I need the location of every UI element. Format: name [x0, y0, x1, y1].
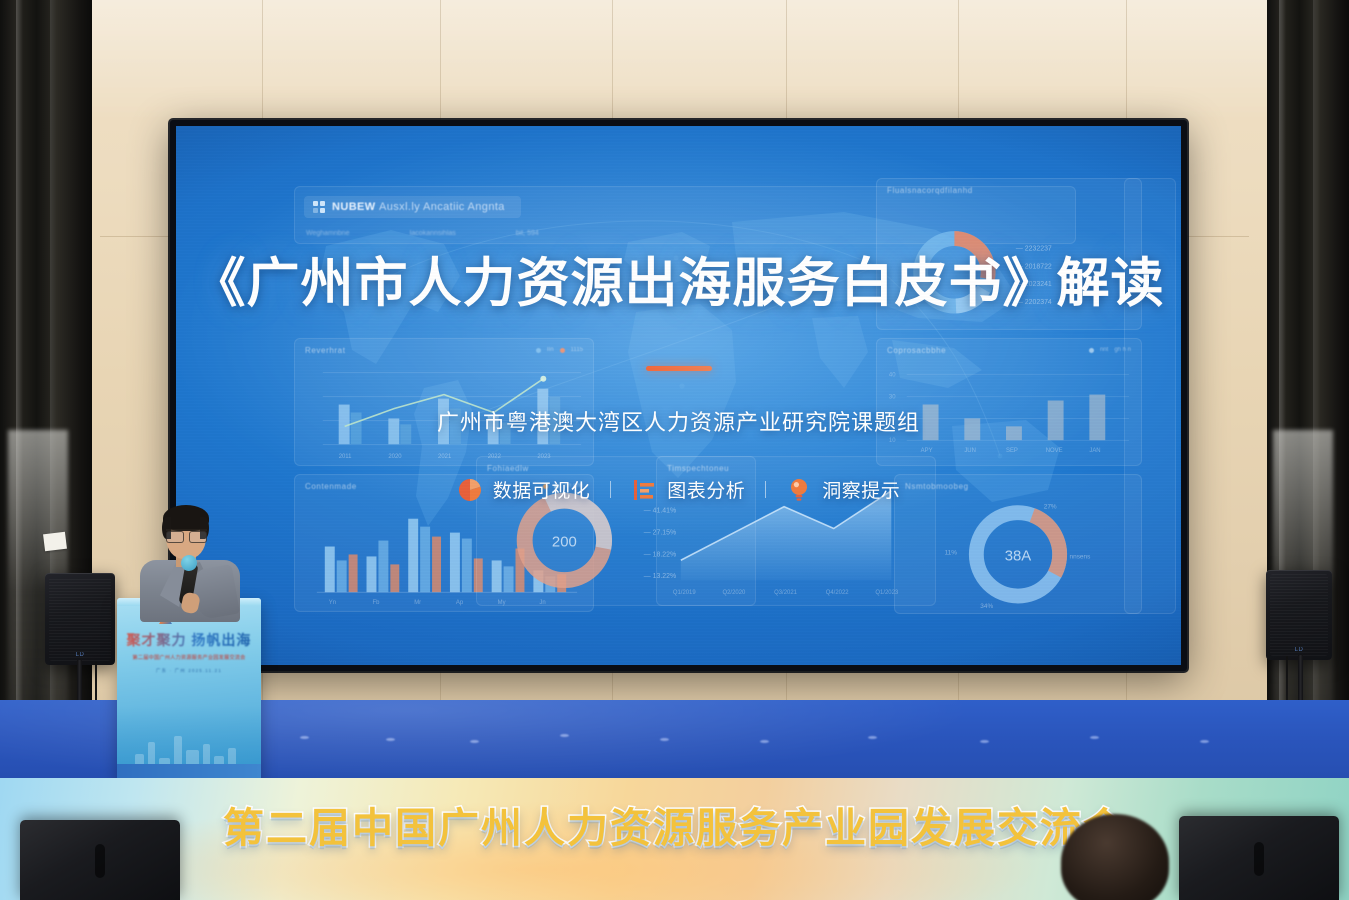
svg-text:38A: 38A — [1005, 548, 1032, 564]
stage-monitor-left — [20, 820, 180, 900]
feature-item-data-visualization: 数据可视化 — [437, 476, 611, 503]
wall-notice-paper — [43, 532, 67, 552]
svg-text:11%: 11% — [945, 549, 958, 556]
podium-headline: 聚才聚力 扬帆出海 — [117, 630, 261, 650]
brand-logo-icon — [313, 201, 325, 213]
svg-text:Fb: Fb — [372, 600, 380, 606]
svg-text:JUN: JUN — [964, 448, 976, 454]
bar-line-chart: 201120202021 20222023 — [295, 339, 593, 466]
svg-text:10: 10 — [889, 438, 896, 444]
svg-text:SEP: SEP — [1006, 448, 1018, 454]
slide-brand-chip: NUBEW Ausxl.ly Ancatiic Angnta — [304, 196, 521, 218]
svg-text:30: 30 — [889, 395, 896, 401]
feature-label: 图表分析 — [667, 476, 745, 503]
speaker-grille — [49, 577, 111, 661]
speaker-glasses — [166, 529, 207, 540]
slide-subtitle: 广州市粤港澳大湾区人力资源产业研究院课题组 — [176, 405, 1181, 437]
svg-text:34%: 34% — [980, 603, 993, 610]
svg-text:2021: 2021 — [438, 454, 452, 460]
stage-monitor-right — [1179, 816, 1339, 900]
svg-text:— 2232237: — 2232237 — [1016, 245, 1052, 252]
dashboard-panel-sidebar — [1124, 178, 1176, 614]
speaker-grille — [1270, 574, 1328, 656]
svg-text:NOVE: NOVE — [1046, 448, 1063, 454]
feature-item-insight-tips: 洞察提示 — [766, 476, 920, 503]
speaker-person — [138, 505, 242, 620]
svg-text:APY: APY — [921, 448, 933, 454]
slide-topbar-stats: Weghamnbne Iacokannsihlas bit, 594 — [306, 230, 1061, 237]
feature-label: 数据可视化 — [493, 476, 591, 503]
speaker-brand-badge: LD — [76, 652, 85, 658]
topbar-stat: bit, 594 — [516, 230, 539, 237]
svg-text:Q1/2019: Q1/2019 — [673, 590, 696, 596]
conference-hall-scene: Flualsnacorqdfilanhd — 2232237 — 2018722… — [0, 0, 1349, 900]
svg-text:200: 200 — [552, 534, 577, 550]
pa-speaker-right: LD — [1266, 570, 1332, 660]
brand-name: NUBEW Ausxl.ly Ancatiic Angnta — [332, 201, 505, 213]
led-screen-bezel: Flualsnacorqdfilanhd — 2232237 — 2018722… — [170, 120, 1187, 671]
bar-chart-right: APYJUNSEP NOVEJAN 40302010 — [877, 339, 1141, 466]
audience-member-head — [1061, 814, 1169, 900]
svg-text:nnsens: nnsens — [1070, 553, 1091, 560]
title-divider-rule — [646, 366, 712, 371]
topbar-stat: Weghamnbne — [306, 230, 349, 237]
svg-text:Mr: Mr — [414, 600, 421, 606]
bar-chart-icon — [631, 477, 657, 503]
hall-pillar-right — [1267, 0, 1349, 790]
feature-label: 洞察提示 — [822, 476, 900, 503]
svg-text:Ap: Ap — [456, 600, 464, 606]
slide-feature-row: 数据可视化 图表分析 — [176, 476, 1181, 503]
svg-text:2020: 2020 — [388, 454, 402, 460]
svg-text:27%: 27% — [1044, 504, 1057, 511]
pie-chart-icon — [457, 477, 483, 503]
podium: 中国广州人力资源服务产业园 聚才聚力 扬帆出海 第二届中国广州人力资源服务产业园… — [117, 598, 261, 780]
pa-speaker-left: LD — [45, 573, 115, 665]
svg-text:Yn: Yn — [329, 600, 336, 606]
podium-subline: 第二届中国广州人力资源服务产业园发展交流会 — [117, 654, 261, 661]
podium-meta: 广东 · 广州 2025.11.21 — [117, 668, 261, 674]
dashboard-panel-revenue-trend: Reverhrat IIn 1115 — [294, 338, 594, 466]
svg-text:Q2/2020: Q2/2020 — [723, 590, 746, 596]
svg-text:JAN: JAN — [1089, 448, 1100, 454]
presentation-slide: Flualsnacorqdfilanhd — 2232237 — 2018722… — [176, 126, 1181, 665]
slide-title: 《广州市人力资源出海服务白皮书》解读 — [176, 254, 1181, 313]
svg-text:2011: 2011 — [339, 454, 352, 460]
lightbulb-icon — [786, 477, 812, 503]
wall-sheen — [0, 0, 1349, 120]
svg-text:40: 40 — [889, 373, 896, 379]
svg-text:Q4/2022: Q4/2022 — [826, 590, 849, 596]
dashboard-panel-comparison: Coprosacbbhe nnt gh h n — [876, 338, 1142, 466]
speaker-brand-badge: LD — [1295, 647, 1304, 653]
topbar-stat: Iacokannsihlas — [409, 230, 455, 237]
svg-text:Q3/2021: Q3/2021 — [774, 590, 797, 596]
feature-item-chart-analysis: 图表分析 — [611, 476, 765, 503]
